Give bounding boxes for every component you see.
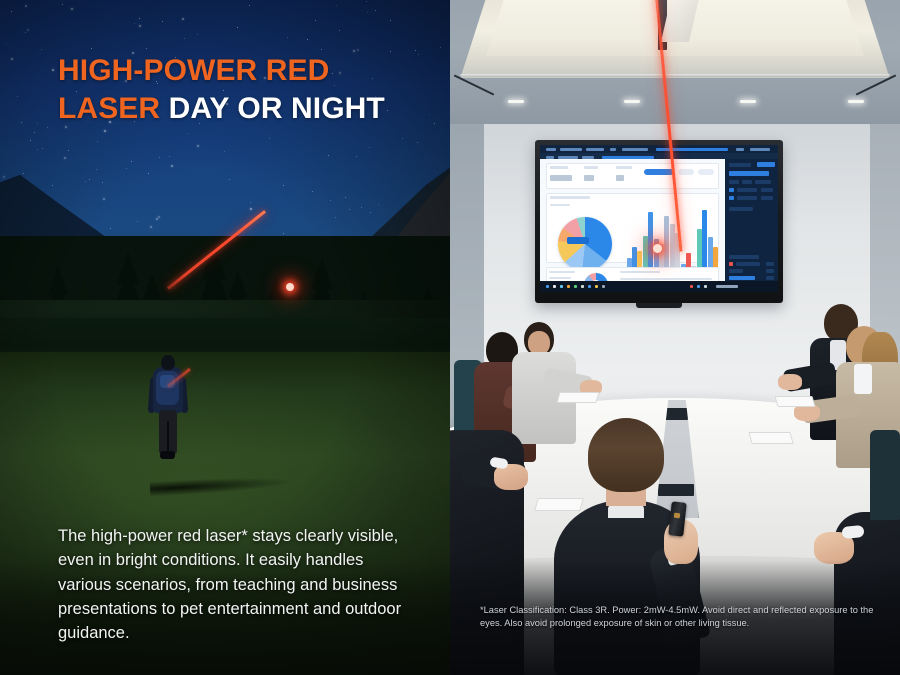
table-row-1 xyxy=(620,278,712,280)
filter-more-button[interactable] xyxy=(698,169,714,175)
attendee-hands xyxy=(778,374,802,390)
activity-chart-title xyxy=(729,207,753,211)
left-panel-night-scene: HIGH-POWER RED LASER DAY OR NIGHT The hi… xyxy=(0,0,450,675)
legal-disclaimer: *Laser Classification: Class 3R. Power: … xyxy=(480,604,880,630)
charts-card-subtitle xyxy=(550,204,570,206)
toolbar-chip-3[interactable] xyxy=(586,148,604,151)
page-title: HIGH-POWER RED LASER DAY OR NIGHT xyxy=(58,52,438,129)
taskbar-tray-2[interactable] xyxy=(697,285,700,288)
toolbar-chip-7[interactable] xyxy=(750,148,770,151)
display-stand xyxy=(636,303,682,308)
wall-display[interactable] xyxy=(535,140,783,303)
chair-right-1 xyxy=(870,430,900,520)
filter-label-3 xyxy=(616,166,632,169)
taskbar-icon-7[interactable] xyxy=(588,285,591,288)
toolbar-chip-6[interactable] xyxy=(736,148,744,151)
headline-line2-accent: LASER xyxy=(58,92,160,125)
headline-line2-rest: DAY OR NIGHT xyxy=(160,92,385,125)
sidebar-chip-3[interactable] xyxy=(755,180,771,184)
taskbar-icon-8[interactable] xyxy=(595,285,598,288)
sidebar-table-val-2 xyxy=(766,269,774,273)
ceiling-edge xyxy=(460,74,890,77)
taskbar-icon-9[interactable] xyxy=(602,285,605,288)
taskbar-icon-1[interactable] xyxy=(546,285,549,288)
sidebar-title xyxy=(729,163,751,167)
attendee-shirt xyxy=(854,364,872,394)
toolbar-chip-2[interactable] xyxy=(560,148,582,151)
sidebar-value-2 xyxy=(761,196,773,200)
taskbar-icon-2[interactable] xyxy=(553,285,556,288)
charts-card-title xyxy=(550,196,590,199)
summary-label-1 xyxy=(549,271,575,273)
sidebar-table-title xyxy=(729,255,759,259)
sidebar-badge-2 xyxy=(729,196,734,200)
sidebar-table-val-3 xyxy=(766,276,774,280)
ceiling-spot-2 xyxy=(624,100,640,103)
sidebar-search-field[interactable] xyxy=(729,171,769,176)
toolbar-chip-5[interactable] xyxy=(622,148,648,151)
filter-value-3[interactable] xyxy=(616,175,624,181)
bar-chart-bar[interactable] xyxy=(648,212,653,273)
notepad-left-1 xyxy=(556,392,599,403)
filter-label-1 xyxy=(550,166,568,169)
headline-line1: HIGH-POWER RED xyxy=(58,54,329,87)
ceiling-spot-4 xyxy=(848,100,864,103)
os-taskbar[interactable] xyxy=(540,281,778,292)
pie-chart-center-label xyxy=(567,237,589,244)
taskbar-icon-4[interactable] xyxy=(567,285,570,288)
sidebar-table-row-3[interactable] xyxy=(729,276,755,280)
toolbar-chip-4[interactable] xyxy=(610,148,616,151)
description-text: The high-power red laser* stays clearly … xyxy=(58,524,418,645)
taskbar-clock[interactable] xyxy=(716,285,738,288)
sidebar-chip-1[interactable] xyxy=(729,180,739,184)
sidebar-chip-2[interactable] xyxy=(742,180,752,184)
taskbar-tray-1[interactable] xyxy=(690,285,693,288)
filter-value-2[interactable] xyxy=(584,175,594,181)
taskbar-tray-3[interactable] xyxy=(704,285,707,288)
bar-chart-bar[interactable] xyxy=(664,216,669,273)
sidebar-table-row-1[interactable] xyxy=(736,262,760,266)
summary-label-2 xyxy=(549,277,571,279)
notepad-right-1 xyxy=(774,396,815,407)
filter-reset-button[interactable] xyxy=(678,169,694,175)
bar-chart-bar[interactable] xyxy=(702,210,707,273)
taskbar-icon-5[interactable] xyxy=(574,285,577,288)
bar-chart-bar[interactable] xyxy=(670,224,675,273)
filter-label-2 xyxy=(584,166,598,169)
sidebar-table-val-1 xyxy=(766,262,774,266)
taskbar-icon-3[interactable] xyxy=(560,285,563,288)
ceiling-spot-1 xyxy=(508,100,524,103)
pie-chart[interactable] xyxy=(558,217,612,271)
bar-chart[interactable] xyxy=(626,207,718,273)
toolbar-address-field[interactable] xyxy=(656,148,728,151)
presenter-head xyxy=(588,418,664,492)
sidebar-table-row-2[interactable] xyxy=(729,269,743,273)
sidebar-primary-button[interactable] xyxy=(757,162,775,167)
filter-apply-button[interactable] xyxy=(644,169,674,175)
dashboard-main xyxy=(540,159,725,281)
taskbar-icon-6[interactable] xyxy=(581,285,584,288)
sidebar-item-2[interactable] xyxy=(737,196,757,200)
filter-value-1[interactable] xyxy=(550,175,572,181)
ad-banner: HIGH-POWER RED LASER DAY OR NIGHT The hi… xyxy=(0,0,900,675)
laser-pointer-button[interactable] xyxy=(674,513,680,519)
dashboard-sidebar xyxy=(725,159,778,281)
sidebar-status-dot-1 xyxy=(729,262,733,266)
sidebar-badge-1 xyxy=(729,188,734,192)
sidebar-value-1 xyxy=(761,188,773,192)
toolbar-chip-1[interactable] xyxy=(546,148,556,151)
display-screen[interactable] xyxy=(540,145,778,292)
sidebar-item-1[interactable] xyxy=(737,188,757,192)
notepad-right-2 xyxy=(748,432,793,444)
ceiling-spot-3 xyxy=(740,100,756,103)
table-header-row xyxy=(620,271,660,273)
